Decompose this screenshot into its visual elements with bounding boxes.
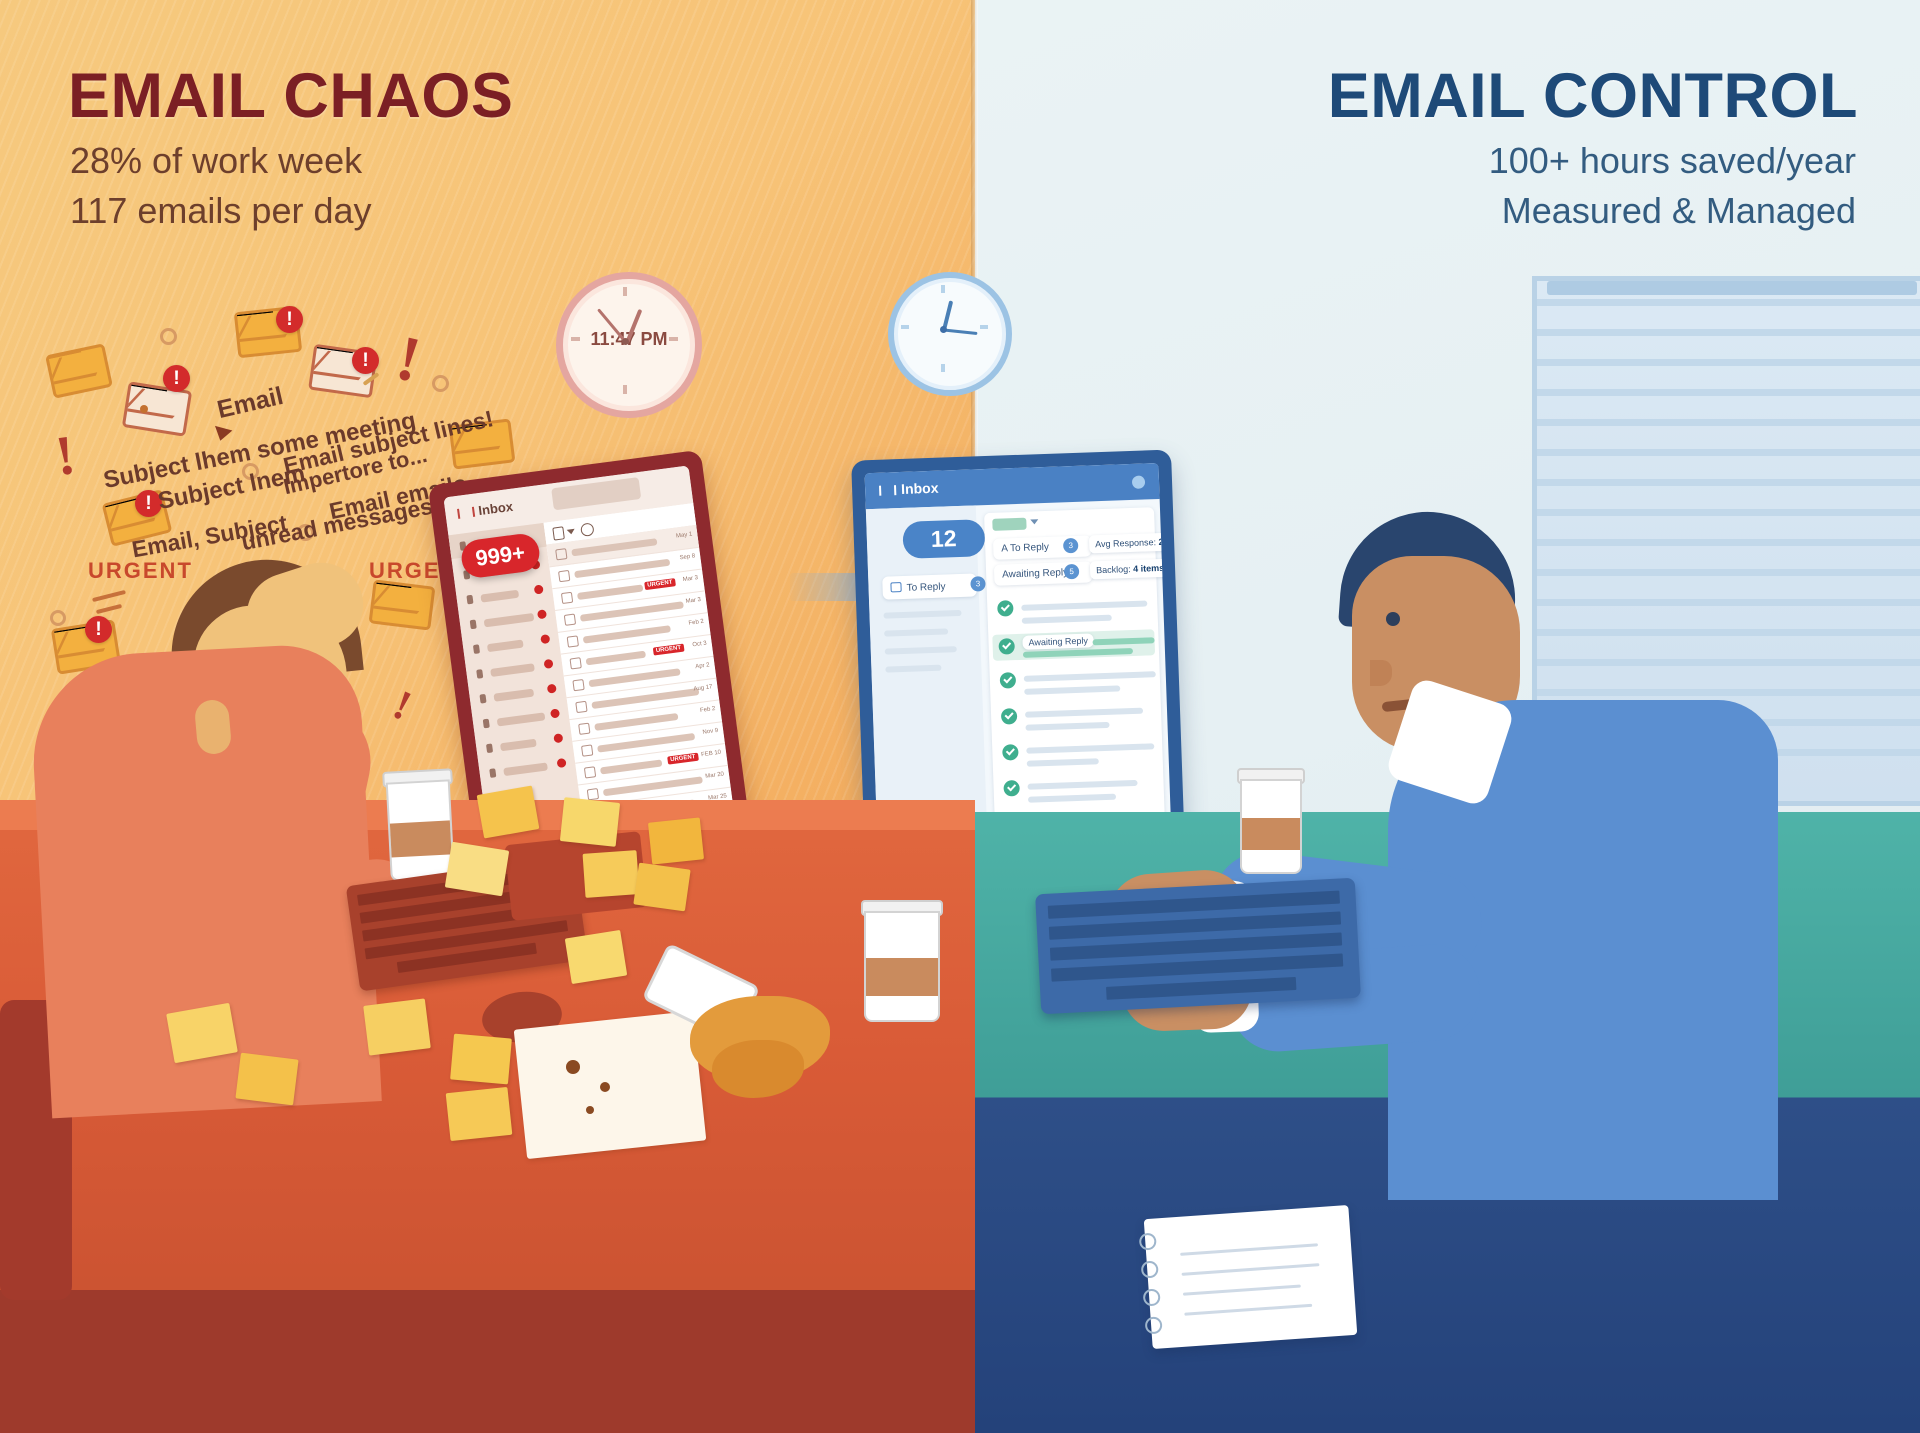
alert-badge-icon: !	[163, 365, 190, 392]
sticky-note	[450, 1034, 512, 1085]
ring-speck	[160, 328, 177, 345]
stat-backlog: Backlog: 4 items	[1090, 559, 1171, 580]
sticky-note	[446, 1087, 513, 1141]
ring-speck	[432, 375, 449, 392]
row-checkbox[interactable]	[575, 701, 587, 713]
select-all-icon[interactable]	[552, 526, 565, 540]
mail-brand: Inbox	[457, 499, 514, 521]
coffee-drop	[600, 1082, 610, 1092]
row-checkbox[interactable]	[584, 766, 596, 778]
row-checkbox[interactable]	[587, 788, 599, 800]
person-ear-left	[194, 699, 233, 756]
envelope-icon	[369, 579, 436, 630]
row-checkbox[interactable]	[570, 657, 582, 669]
row-date: Sep 8	[679, 553, 695, 561]
coffee-drop	[586, 1106, 594, 1114]
infographic-canvas: EMAIL CHAOS 28% of work week 117 emails …	[0, 0, 1920, 1433]
row-checkbox[interactable]	[567, 635, 579, 647]
sticky-note	[560, 797, 620, 847]
row-date: Feb 2	[700, 706, 716, 714]
mail-logo-icon	[457, 507, 475, 519]
stat-avg-response: Avg Response: 2.4hrs	[1089, 532, 1171, 554]
clock-icon-control	[888, 272, 1012, 396]
coffee-cup-left	[385, 768, 455, 881]
sticky-note	[648, 817, 704, 864]
folder-chip-to-reply[interactable]: To Reply	[882, 573, 977, 599]
row-date: Feb 2	[688, 619, 704, 627]
coffee-cup-right	[1240, 768, 1302, 874]
row-checkbox[interactable]	[578, 723, 590, 735]
nose	[1370, 660, 1392, 686]
notepad	[1144, 1205, 1358, 1349]
row-checkbox[interactable]	[564, 614, 576, 626]
clock-icon-chaos: 11:47 PM	[556, 272, 702, 418]
left-stat-1: 28% of work week	[70, 140, 362, 182]
ring-speck	[50, 610, 66, 626]
dot-speck	[140, 405, 148, 413]
inbox-icon	[890, 582, 901, 592]
row-date: Aug 17	[693, 684, 713, 692]
paper-sheet	[514, 1011, 707, 1159]
alert-badge-icon: !	[276, 306, 303, 333]
chip-count: 3	[970, 576, 986, 592]
sticky-note	[235, 1053, 298, 1106]
chevron-down-icon[interactable]	[567, 529, 576, 535]
status-badge: URGENT	[644, 578, 676, 590]
floor-left	[0, 1290, 975, 1433]
status-badge: URGENT	[652, 644, 684, 656]
keyboard-right[interactable]	[1035, 878, 1361, 1015]
control-monitor: Inbox 12 To Reply 3 A To Reply 3 Awaitin…	[851, 450, 1185, 861]
urgent-label: URGENT	[88, 558, 193, 584]
chevron-down-icon[interactable]	[1030, 519, 1038, 524]
sticky-note	[565, 930, 628, 984]
status-badge: URGENT	[667, 753, 699, 765]
mail-brand: Inbox	[879, 480, 939, 498]
right-stat-1: 100+ hours saved/year	[1489, 140, 1856, 182]
row-date: Mar 20	[705, 771, 724, 779]
row-date: Apr 2	[695, 662, 710, 670]
row-checkbox[interactable]	[581, 744, 593, 756]
row-checkbox[interactable]	[558, 570, 570, 582]
row-checkbox[interactable]	[572, 679, 584, 691]
page-title-right: EMAIL CONTROL	[1328, 60, 1858, 132]
row-date: Nov 9	[702, 728, 718, 736]
row-date: FEB 10	[701, 750, 722, 759]
avatar[interactable]	[1132, 475, 1145, 488]
row-date: Oct 3	[692, 641, 707, 649]
search-bar[interactable]	[551, 477, 641, 510]
row-checkbox[interactable]	[561, 592, 573, 604]
alert-badge-icon: !	[85, 616, 112, 643]
coffee-cup-right-2	[864, 900, 940, 1022]
sticky-note	[633, 863, 690, 912]
inbox-count-pill: 12	[902, 519, 985, 559]
sticky-note	[363, 998, 431, 1055]
row-checkbox[interactable]	[555, 548, 567, 560]
row-date: May 1	[676, 532, 693, 540]
inbox-screen-control[interactable]: Inbox 12 To Reply 3 A To Reply 3 Awaitin…	[865, 463, 1172, 844]
left-stat-2: 117 emails per day	[70, 190, 372, 232]
row-label-awaiting-reply: Awaiting Reply	[1022, 633, 1094, 649]
alert-badge-icon: !	[352, 347, 379, 374]
sticky-note	[583, 850, 640, 898]
eye	[1386, 612, 1400, 626]
mail-logo-icon	[879, 485, 896, 496]
refresh-icon[interactable]	[580, 522, 595, 537]
coffee-drop	[566, 1060, 580, 1074]
row-date: Mar 3	[683, 575, 699, 583]
label-chip	[992, 518, 1026, 531]
sticky-note	[445, 842, 509, 897]
row-date: Mar 3	[685, 597, 701, 605]
right-stat-2: Measured & Managed	[1502, 190, 1856, 232]
page-title-left: EMAIL CHAOS	[68, 60, 513, 132]
